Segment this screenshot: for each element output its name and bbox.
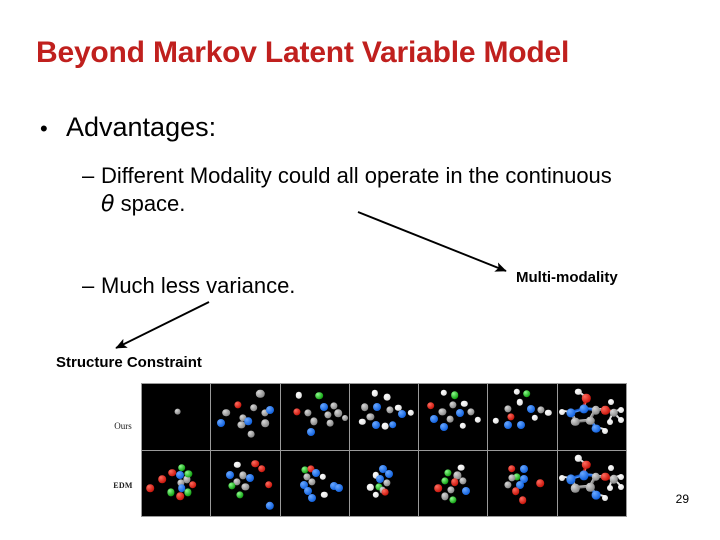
bullet-marker-dash: –: [82, 163, 101, 189]
molecule-atom: [308, 494, 316, 502]
molecule-atom: [228, 482, 235, 489]
molecule-cell: [558, 384, 626, 450]
molecule-atom: [389, 421, 397, 429]
molecule-atom: [523, 390, 531, 398]
molecule-atom: [373, 403, 381, 411]
molecule-atom: [174, 408, 181, 415]
molecule-cell: [558, 451, 626, 517]
molecule-atom: [444, 469, 451, 476]
molecule-atom: [456, 409, 464, 417]
molecule-atom: [384, 394, 391, 401]
theta-symbol: θ: [101, 192, 114, 217]
molecule-atom: [326, 420, 333, 427]
callout-multi-modality: Multi-modality: [516, 269, 618, 286]
molecule-atom: [266, 501, 274, 509]
molecule-atom: [398, 410, 406, 418]
molecule-atom: [602, 428, 608, 434]
molecule-atom: [236, 491, 243, 498]
molecule-atom: [266, 406, 274, 414]
molecule-cell: [211, 384, 279, 450]
molecule-atom: [602, 495, 608, 501]
molecule-atom: [559, 475, 565, 481]
molecule-atom: [167, 489, 174, 496]
molecule-atom: [372, 421, 380, 429]
molecule-atom: [461, 400, 467, 406]
molecule-atom: [579, 471, 588, 480]
molecule-atom: [382, 489, 389, 496]
molecule-atom: [514, 389, 520, 395]
molecule-atom: [582, 461, 590, 469]
molecule-atom: [451, 478, 459, 486]
molecule-atom: [512, 487, 520, 495]
molecule-grid: [141, 383, 627, 517]
molecule-atom: [159, 476, 167, 484]
molecule-atom: [434, 485, 442, 493]
molecule-atom: [265, 481, 273, 489]
molecule-atom: [407, 410, 413, 416]
molecule-atom: [520, 465, 528, 473]
molecule-atom: [185, 470, 192, 477]
molecule-atom: [592, 424, 601, 433]
molecule-atom: [504, 421, 512, 429]
molecule-cell: [142, 384, 210, 450]
molecule-atom: [462, 487, 470, 495]
page-number: 29: [676, 492, 689, 506]
molecule-atom: [226, 471, 234, 479]
molecule-atom: [361, 403, 369, 411]
molecule-atom: [571, 418, 579, 426]
molecule-atom: [250, 404, 258, 412]
molecule-atom: [320, 473, 326, 479]
bullet-advantages: • Advantages:: [40, 113, 216, 143]
molecule-atom: [504, 481, 511, 488]
molecule-atom: [342, 415, 348, 421]
molecule-cell: [419, 451, 487, 517]
molecule-atom: [168, 469, 176, 477]
molecule-atom: [334, 410, 342, 418]
molecule-atom: [324, 411, 331, 418]
modality-text-after: space.: [114, 191, 185, 216]
molecule-atom: [519, 496, 527, 504]
molecule-atom: [571, 484, 579, 492]
molecule-atom: [607, 419, 613, 425]
molecule-atom: [618, 417, 624, 423]
molecule-atom: [367, 484, 373, 490]
molecule-grid-row: [142, 384, 626, 450]
arrow-to-structure-constraint: [116, 302, 209, 348]
molecule-atom: [618, 484, 624, 490]
molecule-atom: [321, 492, 327, 498]
molecule-atom: [527, 405, 535, 413]
molecule-atom: [189, 481, 197, 489]
molecule-atom: [545, 410, 551, 416]
molecule-atom: [441, 493, 448, 500]
molecule-atom: [446, 415, 453, 422]
molecule-atom: [359, 419, 365, 425]
molecule-atom: [460, 423, 466, 429]
molecule-atom: [449, 401, 456, 408]
molecule-atom: [517, 421, 525, 429]
molecule-atom: [450, 497, 457, 504]
bullet-advantages-label: Advantages:: [66, 113, 216, 143]
molecule-atom: [335, 484, 343, 492]
molecule-atom: [618, 407, 624, 413]
molecule-atom: [447, 486, 454, 493]
callout-structure-constraint: Structure Constraint: [56, 354, 202, 371]
molecule-atom: [387, 407, 394, 414]
molecule-atom: [607, 485, 613, 491]
bullet-different-modality: – Different Modality could all operate i…: [82, 162, 622, 219]
molecule-atom: [579, 404, 588, 413]
molecule-atom: [316, 392, 324, 400]
molecule-atom: [330, 402, 337, 409]
molecule-atom: [261, 420, 269, 428]
molecule-atom: [458, 464, 465, 471]
molecule-atom: [293, 408, 300, 415]
bullet-marker-dash: –: [82, 273, 101, 299]
arrow-to-multi-modality: [358, 212, 506, 271]
bullet-marker-dot: •: [40, 118, 66, 140]
molecule-atom: [451, 391, 459, 399]
molecule-atom: [475, 417, 481, 423]
molecule-atom: [320, 403, 328, 411]
bullet-different-modality-text: Different Modality could all operate in …: [101, 162, 622, 219]
molecule-atom: [504, 405, 511, 412]
molecule-atom: [459, 477, 466, 484]
molecule-atom: [592, 406, 600, 414]
slide: Beyond Markov Latent Variable Model • Ad…: [0, 0, 720, 540]
molecule-atom: [373, 492, 379, 498]
molecule-cell: [350, 384, 418, 450]
molecule-cell: [211, 451, 279, 517]
molecule-atom: [296, 392, 302, 398]
row-label-edm: EDM: [100, 481, 146, 490]
molecule-atom: [242, 484, 249, 491]
molecule-cell: [488, 384, 556, 450]
molecule-atom: [258, 465, 266, 473]
molecule-atom: [537, 407, 544, 414]
molecule-atom: [493, 417, 499, 423]
molecule-atom: [372, 390, 378, 396]
molecule-atom: [244, 418, 252, 426]
molecule-atom: [618, 474, 624, 480]
molecule-cell: [488, 451, 556, 517]
molecule-cell: [281, 451, 349, 517]
molecule-atom: [176, 493, 184, 501]
molecule-cell: [350, 451, 418, 517]
molecule-atom: [537, 479, 545, 487]
molecule-atom: [246, 474, 254, 482]
molecule-atom: [508, 465, 516, 473]
molecule-atom: [601, 472, 609, 480]
molecule-atom: [439, 408, 446, 415]
molecule-atom: [582, 394, 590, 402]
molecule-atom: [441, 389, 447, 395]
page-title: Beyond Markov Latent Variable Model: [36, 36, 696, 70]
molecule-grid-row: [142, 451, 626, 517]
molecule-atom: [467, 408, 474, 415]
molecule-atom: [382, 423, 389, 430]
modality-text-before: Different Modality could all operate in …: [101, 163, 612, 188]
molecule-atom: [184, 489, 191, 496]
molecule-cell: [281, 384, 349, 450]
molecule-atom: [517, 399, 523, 405]
molecule-atom: [146, 485, 154, 493]
molecule-atom: [430, 415, 438, 423]
molecule-atom: [532, 415, 538, 421]
molecule-atom: [608, 465, 614, 471]
molecule-atom: [256, 390, 264, 398]
molecule-atom: [308, 478, 315, 485]
molecule-atom: [592, 491, 601, 500]
molecule-atom: [367, 413, 374, 420]
molecule-atom: [608, 399, 614, 405]
molecule-atom: [507, 413, 514, 420]
molecule-atom: [223, 409, 231, 417]
molecule-cell: [419, 384, 487, 450]
molecule-atom: [310, 418, 317, 425]
bullet-less-variance-text: Much less variance.: [101, 272, 295, 300]
molecule-atom: [441, 477, 448, 484]
molecule-atom: [234, 401, 241, 408]
molecule-atom: [385, 470, 393, 478]
molecule-cell: [142, 451, 210, 517]
molecule-atom: [559, 409, 565, 415]
molecule-atom: [234, 462, 240, 468]
molecule-atom: [440, 423, 448, 431]
molecule-atom: [304, 409, 311, 416]
row-label-ours: Ours: [100, 421, 146, 431]
molecule-atom: [178, 464, 186, 472]
molecule-atom: [217, 419, 225, 427]
molecule-atom: [247, 430, 254, 437]
molecule-atom: [307, 428, 315, 436]
molecule-atom: [427, 402, 435, 410]
molecule-atom: [592, 472, 600, 480]
molecule-atom: [601, 406, 609, 414]
